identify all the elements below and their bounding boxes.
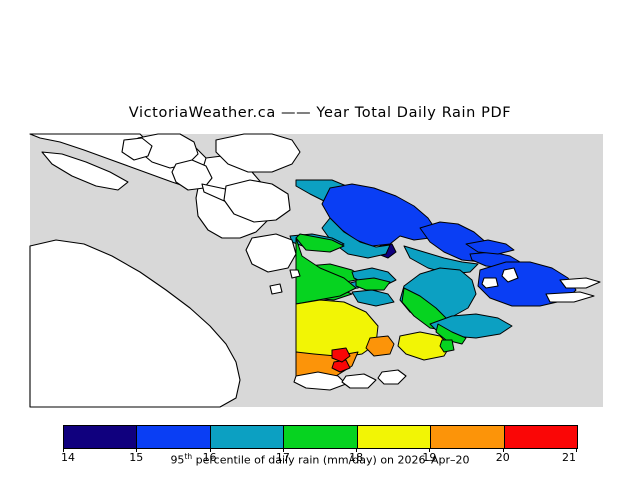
map-panel [0,128,640,413]
colorbar-gradient[interactable] [63,425,578,449]
colorbar-segment-16-17[interactable] [211,426,284,448]
caption-percentile-suffix: th [184,452,192,461]
colorbar-segment-18-19[interactable] [358,426,431,448]
page-title: VictoriaWeather.ca —— Year Total Daily R… [0,105,640,121]
colorbar-segment-17-18[interactable] [284,426,357,448]
landmass-islet-hook-east [482,278,498,288]
colorbar-panel: 1415161718192021 [0,420,640,480]
colorbar-segment-19-20[interactable] [431,426,504,448]
landmass-islet-diamond [270,284,282,294]
colorbar-segment-14-15[interactable] [64,426,137,448]
caption-percentile-number: 95 [170,454,184,467]
weather-contour-map[interactable] [0,128,640,413]
caption-text: percentile of daily rain (mm/day) on 202… [192,454,469,467]
colorbar-segment-15-16[interactable] [137,426,210,448]
figure-canvas: VictoriaWeather.ca —— Year Total Daily R… [0,0,640,480]
landmass-islet-small-west [290,270,300,278]
colorbar-caption: 95th percentile of daily rain (mm/day) o… [0,452,640,467]
colorbar-segment-20-21[interactable] [505,426,577,448]
